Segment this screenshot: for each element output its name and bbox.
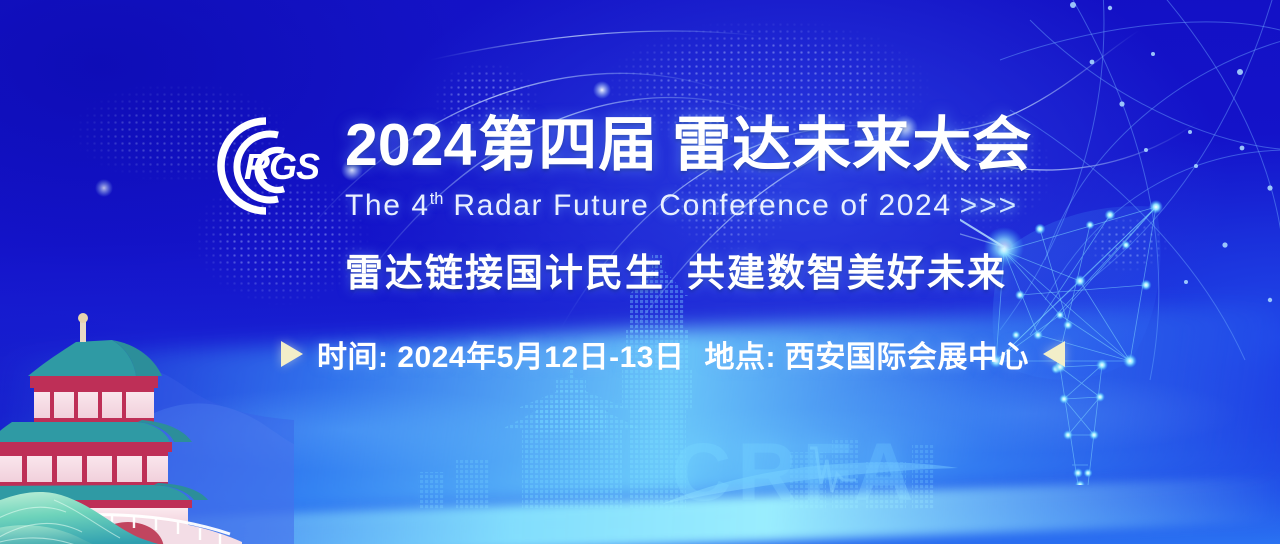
banner-content: RGS 2024第四届雷达未来大会 The 4th Radar Future C… — [0, 0, 1280, 544]
slogan-right: 共建数智美好未来 — [687, 253, 1007, 295]
subtitle-ordinal: th — [430, 190, 444, 208]
conference-banner: CRFA — [0, 0, 1280, 544]
title-year: 2024 — [345, 112, 478, 178]
page-title: 2024第四届雷达未来大会 — [345, 116, 1032, 175]
time-value: 2024年5月12日-13日 — [397, 341, 684, 374]
triangle-left-icon — [1043, 341, 1065, 367]
place-label: 地点: — [705, 341, 777, 374]
subtitle-rest: Radar Future Conference of 2024 — [443, 189, 951, 222]
slogan: 雷达链接国计民生共建数智美好未来 — [345, 255, 1007, 293]
chevron-arrows-icon: >>> — [952, 189, 1019, 222]
title-edition: 第四届 — [478, 112, 658, 178]
event-info-line: 时间: 2024年5月12日-13日地点: 西安国际会展中心 — [281, 332, 1065, 376]
time-label: 时间: — [317, 341, 389, 374]
subtitle-prefix: The 4 — [345, 189, 430, 222]
crgs-swirl-logo-icon: RGS — [192, 113, 342, 219]
triangle-right-icon — [281, 341, 303, 367]
svg-text:RGS: RGS — [244, 146, 320, 187]
place-value: 西安国际会展中心 — [785, 341, 1029, 374]
title-name: 雷达未来大会 — [672, 112, 1032, 178]
event-info-text: 时间: 2024年5月12日-13日地点: 西安国际会展中心 — [317, 332, 1029, 376]
subtitle-english: The 4th Radar Future Conference of 2024>… — [345, 191, 1018, 221]
slogan-left: 雷达链接国计民生 — [345, 253, 665, 295]
